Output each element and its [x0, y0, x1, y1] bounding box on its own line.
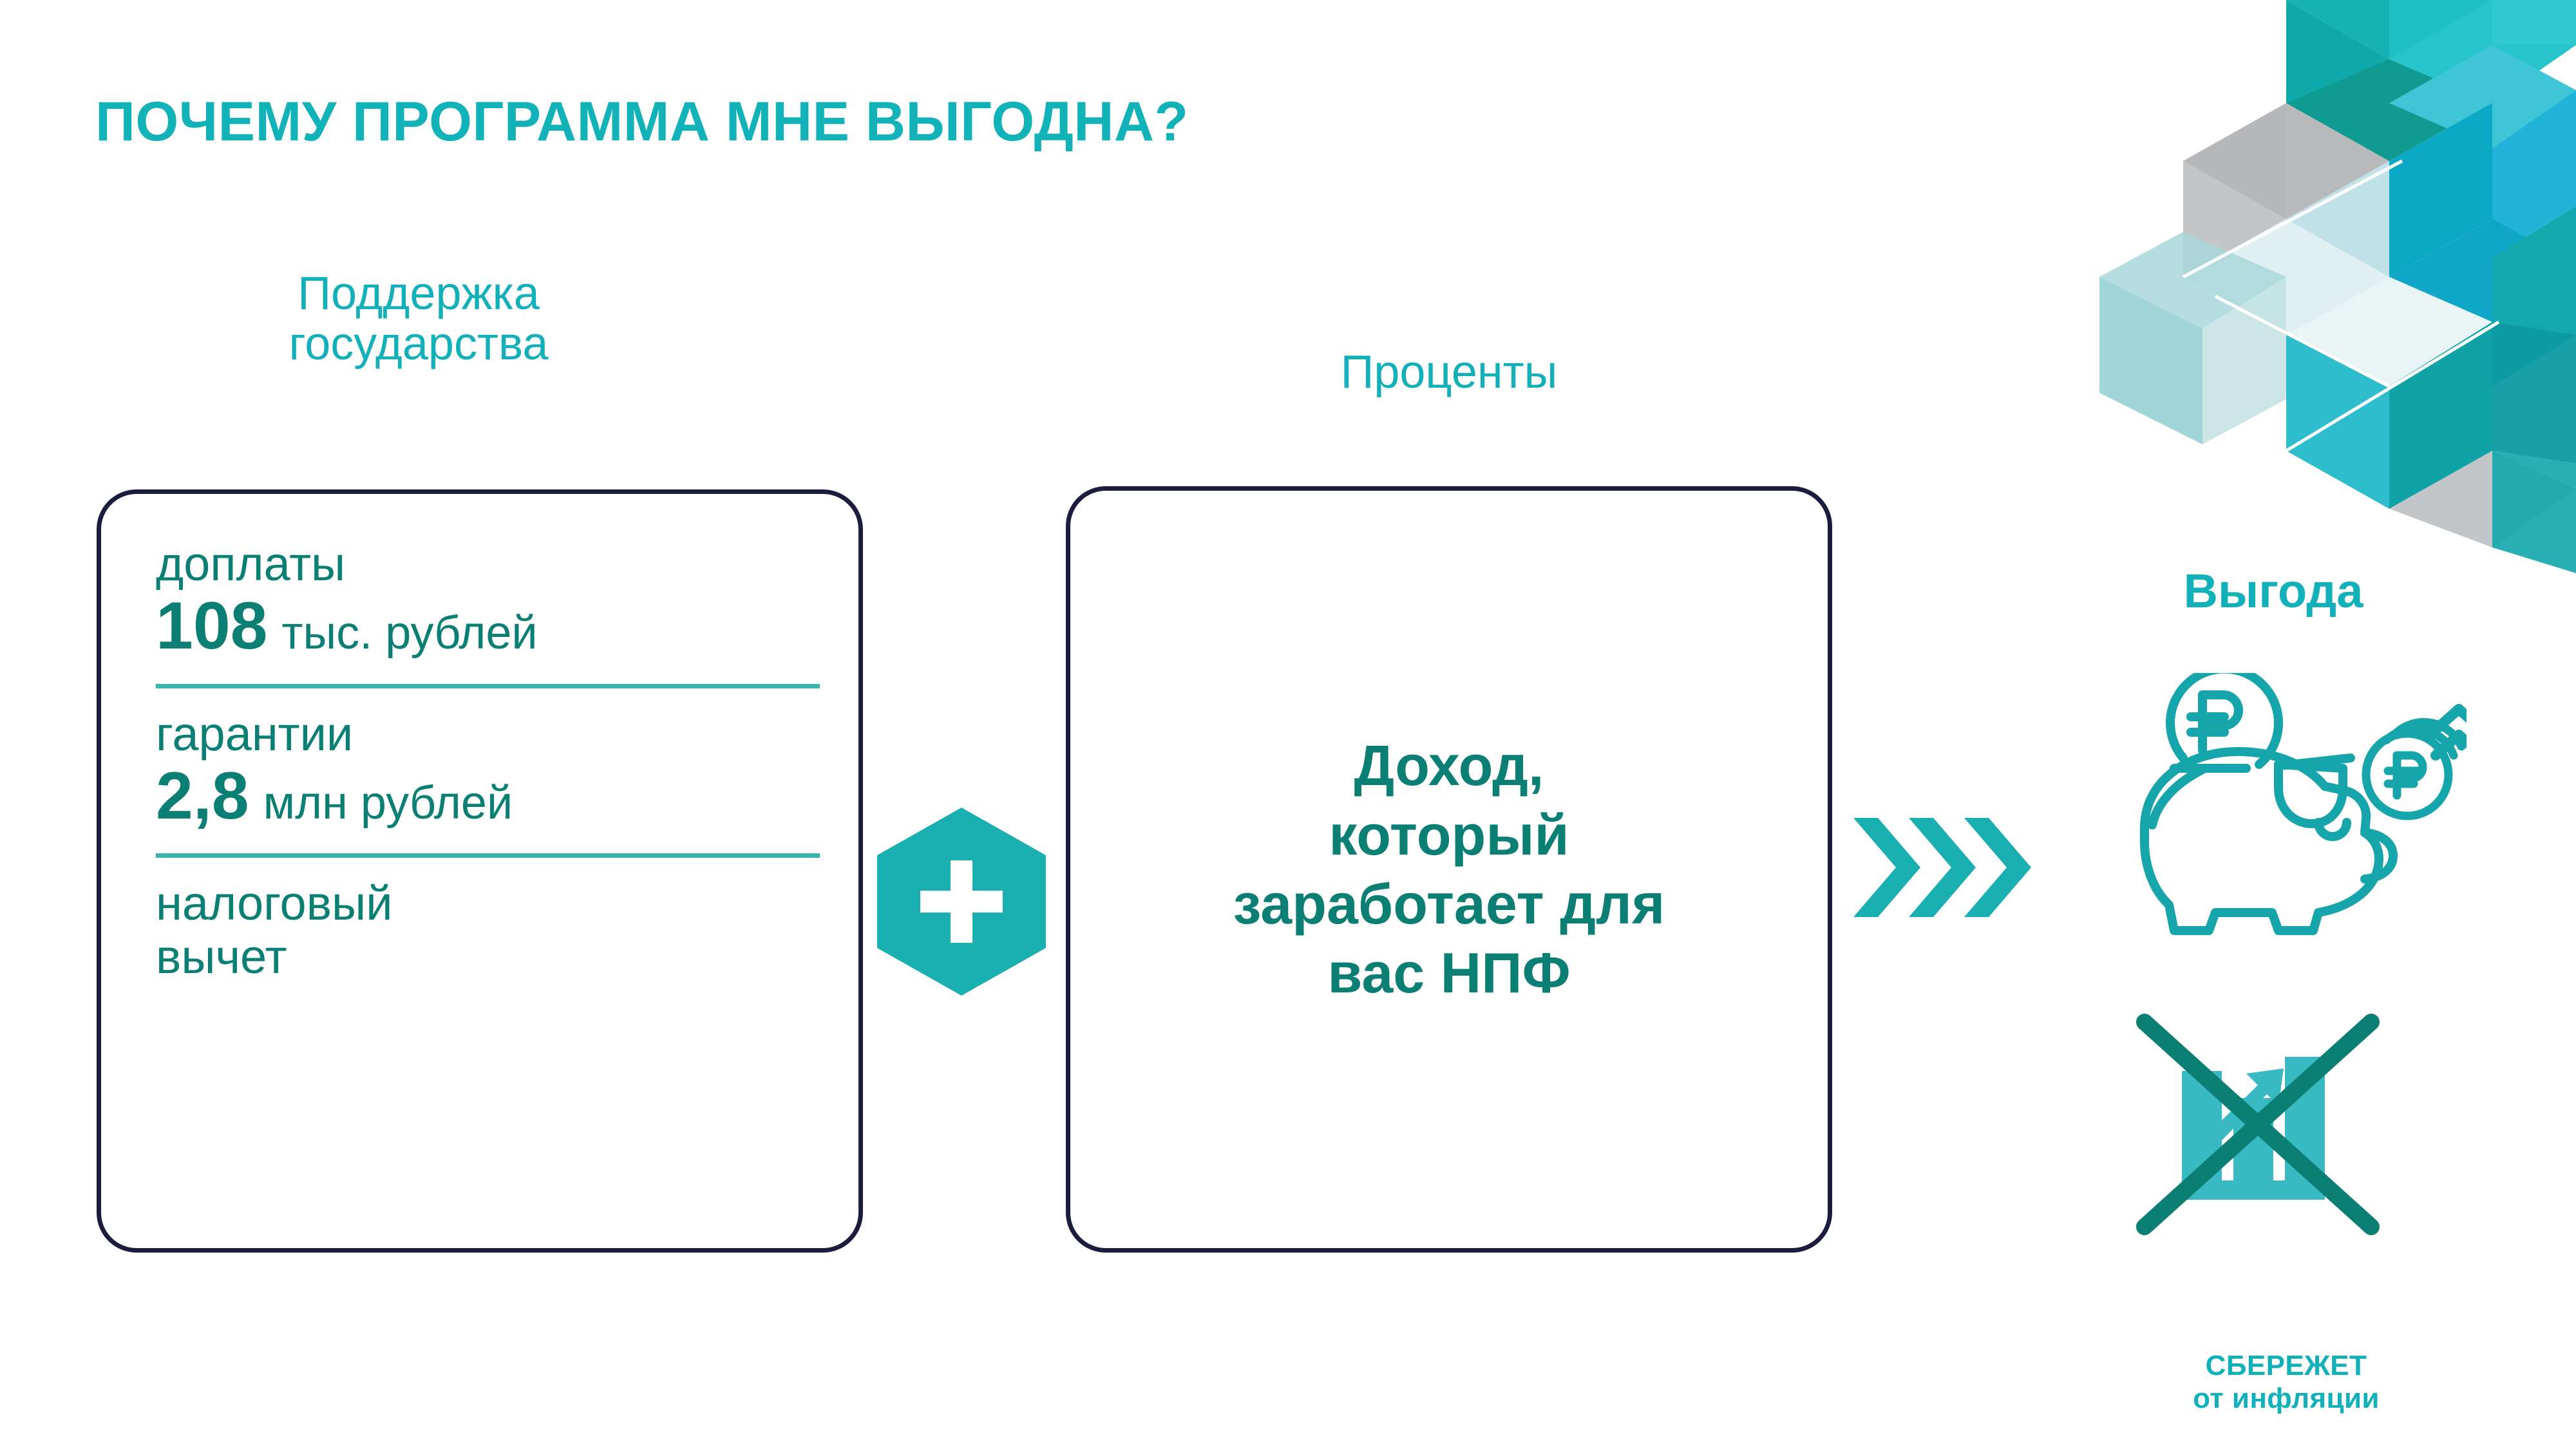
card-npf-income[interactable]: Доход, который заработает для вас НПФ	[1066, 486, 1832, 1253]
metric-guarantees-value: 2,8	[156, 761, 249, 831]
column-heading-percent: Проценты	[1095, 348, 1803, 398]
isometric-cubes-decoration	[2099, 0, 2576, 618]
inflation-caption: СБЕРЕЖЕТ от инфляции	[2087, 1349, 2486, 1415]
metric-guarantees: гарантии 2,8 млн рублей	[156, 708, 820, 832]
card-divider-2	[156, 853, 820, 858]
card-state-support[interactable]: доплаты 108 тыс. рублей гарантии 2,8 млн…	[97, 489, 863, 1253]
plus-hexagon-icon	[875, 806, 1048, 997]
inflation-caption-line1: СБЕРЕЖЕТ	[2087, 1349, 2486, 1382]
column-heading-support-line2: государства	[174, 319, 663, 370]
triple-chevron-right-icon	[1853, 813, 2047, 922]
piggy-bank-icon	[2106, 673, 2467, 943]
metric-tax-deduction-line1: налоговый	[156, 877, 820, 931]
page-title: ПОЧЕМУ ПРОГРАММА МНЕ ВЫГОДНА?	[95, 90, 1189, 154]
metric-supplements-label: доплаты	[156, 538, 820, 590]
metric-supplements-value: 108	[156, 591, 268, 661]
metric-guarantees-label: гарантии	[156, 708, 820, 760]
inflation-caption-line2: от инфляции	[2087, 1382, 2486, 1415]
card-state-support-content: доплаты 108 тыс. рублей гарантии 2,8 млн…	[156, 538, 820, 984]
metric-tax-deduction: налоговый вычет	[156, 877, 820, 984]
card-npf-income-text: Доход, который заработает для вас НПФ	[1188, 731, 1710, 1007]
card-npf-income-line2: который	[1233, 800, 1665, 869]
crossed-out-bar-chart-icon	[2132, 1001, 2434, 1304]
metric-supplements: доплаты 108 тыс. рублей	[156, 538, 820, 662]
metric-guarantees-row: 2,8 млн рублей	[156, 761, 820, 831]
metric-tax-deduction-line2: вычет	[156, 931, 820, 984]
card-npf-income-line1: Доход,	[1233, 731, 1665, 800]
card-divider-1	[156, 684, 820, 688]
column-heading-support: Поддержка государства	[174, 269, 663, 370]
column-heading-benefit: Выгода	[2067, 565, 2479, 617]
column-heading-support-line1: Поддержка	[174, 269, 663, 319]
metric-guarantees-unit: млн рублей	[263, 777, 513, 829]
metric-supplements-unit: тыс. рублей	[282, 607, 538, 659]
card-npf-income-line4: вас НПФ	[1233, 938, 1665, 1007]
metric-supplements-row: 108 тыс. рублей	[156, 591, 820, 661]
card-npf-income-line3: заработает для	[1233, 869, 1665, 938]
